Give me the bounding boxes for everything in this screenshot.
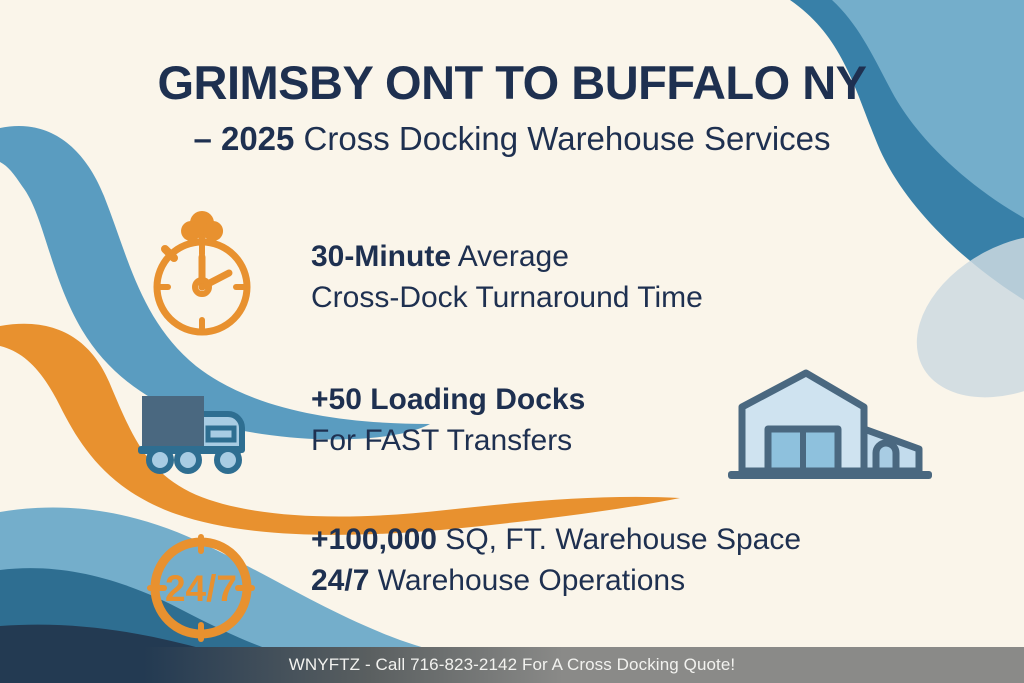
page-title: GRIMSBY ONT TO BUFFALO NY <box>0 58 1024 109</box>
stopwatch-icon <box>141 209 263 346</box>
clock-24-7-icon: 24/7 <box>142 529 260 652</box>
delivery-truck-icon <box>134 388 252 481</box>
feature-row-turnaround: 30-Minute Average Cross-Dock Turnaround … <box>311 236 703 319</box>
subtitle-year: – 2025 <box>193 120 294 157</box>
feature-3-line-1-bold: +100,000 <box>311 523 437 556</box>
subtitle-rest: Cross Docking Warehouse Services <box>294 120 830 157</box>
feature-1-line-2: Cross-Dock Turnaround Time <box>311 277 703 318</box>
feature-3-line-2-bold: 24/7 <box>311 564 369 597</box>
footer-bar: WNYFTZ - Call 716-823-2142 For A Cross D… <box>0 647 1024 683</box>
feature-1-text: 30-Minute Average Cross-Dock Turnaround … <box>311 236 703 319</box>
footer-contact-text: WNYFTZ - Call 716-823-2142 For A Cross D… <box>289 655 736 675</box>
clock-label: 24/7 <box>165 568 237 609</box>
feature-2-line-2: For FAST Transfers <box>311 420 585 461</box>
header-block: GRIMSBY ONT TO BUFFALO NY – 2025 Cross D… <box>0 58 1024 157</box>
page-subtitle: – 2025 Cross Docking Warehouse Services <box>0 121 1024 157</box>
feature-3-line-2-rest: Warehouse Operations <box>369 564 685 597</box>
feature-3-text: +100,000 SQ, FT. Warehouse Space 24/7 Wa… <box>311 519 801 602</box>
feature-1-line-2-rest: Cross-Dock Turnaround Time <box>311 281 703 314</box>
infographic-canvas: GRIMSBY ONT TO BUFFALO NY – 2025 Cross D… <box>0 0 1024 683</box>
feature-1-line-1-rest: Average <box>451 240 569 273</box>
feature-2-line-1-bold: +50 Loading Docks <box>311 383 585 416</box>
feature-3-line-1: +100,000 SQ, FT. Warehouse Space <box>311 519 801 560</box>
feature-3-line-1-rest: SQ, FT. Warehouse Space <box>437 523 801 556</box>
feature-row-loading-docks: +50 Loading Docks For FAST Transfers <box>311 379 585 462</box>
feature-2-line-2-rest: For FAST Transfers <box>311 424 572 457</box>
warehouse-building-icon <box>714 363 944 488</box>
feature-2-line-1: +50 Loading Docks <box>311 379 585 420</box>
feature-1-line-1: 30-Minute Average <box>311 236 703 277</box>
feature-2-text: +50 Loading Docks For FAST Transfers <box>311 379 585 462</box>
feature-3-line-2: 24/7 Warehouse Operations <box>311 560 801 601</box>
feature-1-line-1-bold: 30-Minute <box>311 240 451 273</box>
feature-row-warehouse-space: +100,000 SQ, FT. Warehouse Space 24/7 Wa… <box>311 519 801 602</box>
